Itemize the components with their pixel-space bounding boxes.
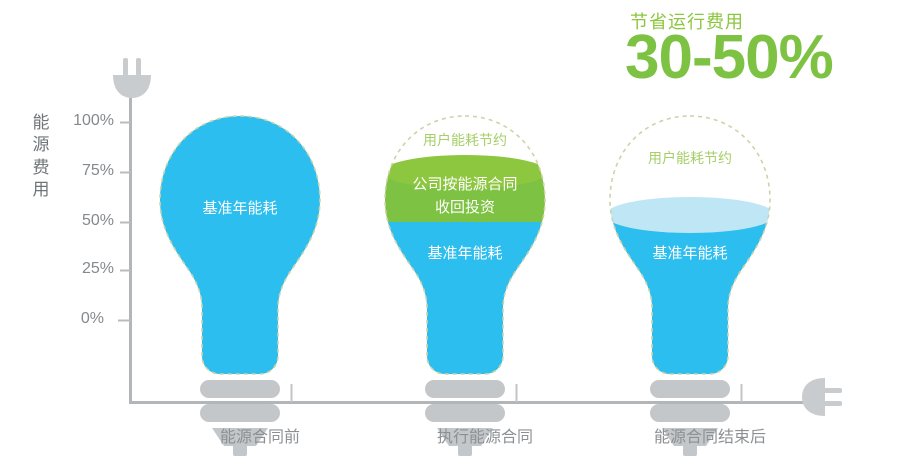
- bulb-2-investment-label-line2: 收回投资: [385, 197, 545, 220]
- y-tick-label-75: 75%: [56, 162, 114, 180]
- bulb-during-contract: [381, 116, 551, 456]
- y-tick-label-100: 100%: [56, 112, 114, 130]
- bulb-3-savings-label: 用户能耗节约: [610, 148, 770, 168]
- bulb-2-baseline-label: 基准年能耗: [385, 243, 545, 265]
- x-tick-label-after: 能源合同结束后: [620, 423, 800, 447]
- power-plug-side-icon: [802, 378, 842, 416]
- y-axis-title: 能源费用: [30, 112, 52, 202]
- bulb-3-baseline-label: 基准年能耗: [610, 243, 770, 265]
- bulb-2-investment-label: 公司按能源合同 收回投资: [385, 174, 545, 219]
- bulb-2-savings-label: 用户能耗节约: [385, 130, 545, 150]
- power-plug-icon: [113, 58, 151, 98]
- bulb-3-fill: [605, 197, 776, 405]
- bulb-bar-chart: [0, 0, 900, 473]
- bulb-2-investment-label-line1: 公司按能源合同: [385, 174, 545, 197]
- y-tick-label-50: 50%: [56, 212, 114, 230]
- bulb-before-contract: [156, 114, 326, 456]
- bulb-1-fill: [156, 114, 326, 404]
- x-tick-label-during: 执行能源合同: [395, 423, 575, 447]
- x-tick-label-before: 能源合同前: [170, 423, 350, 447]
- y-tick-label-25: 25%: [56, 260, 114, 278]
- y-tick-label-0: 0%: [46, 310, 104, 328]
- bulb-1-baseline-label: 基准年能耗: [160, 198, 320, 220]
- infographic-canvas: 节省运行费用 30-50%: [0, 0, 900, 473]
